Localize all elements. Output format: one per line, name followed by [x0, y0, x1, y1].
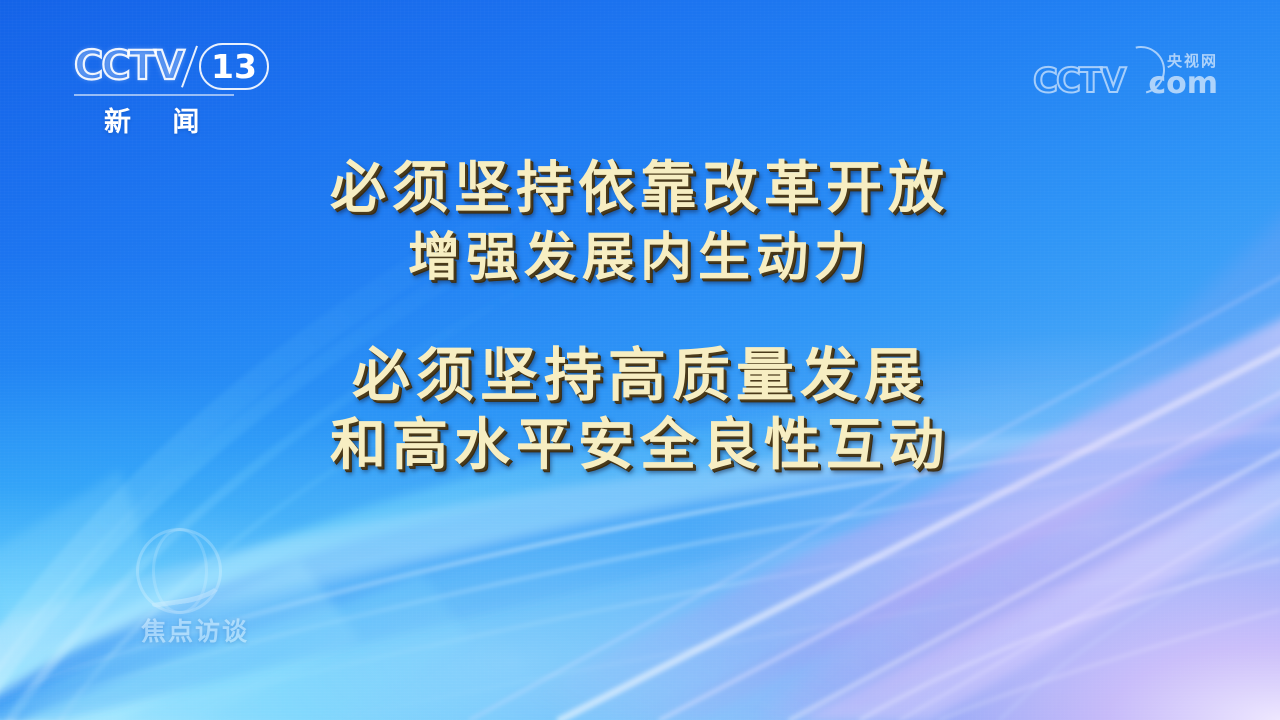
- cctv-watermark-tld-text: com: [1148, 68, 1218, 100]
- channel-number-capsule: 13: [199, 43, 269, 90]
- cctv-watermark-brand-text: CCTV: [1033, 62, 1124, 100]
- cctv-com-watermark: CCTV 央视网 com: [1033, 48, 1218, 104]
- broadcast-screen: CCTV 13 新 闻 CCTV 央视网 com 必须坚持依靠改革开放 增强发展…: [0, 0, 1280, 720]
- channel-name-text: 新 闻: [104, 100, 215, 139]
- program-watermark: 焦点访谈: [110, 528, 280, 648]
- cctv-brand-text: CCTV: [74, 44, 183, 88]
- program-name-text: 焦点访谈: [110, 612, 280, 648]
- logo-slash-divider: [181, 46, 198, 88]
- channel-logo-row: CCTV 13: [68, 44, 268, 92]
- logo-underline: [74, 94, 234, 96]
- channel-number-text: 13: [201, 45, 267, 88]
- cctv-13-channel-logo: CCTV 13 新 闻: [68, 44, 268, 136]
